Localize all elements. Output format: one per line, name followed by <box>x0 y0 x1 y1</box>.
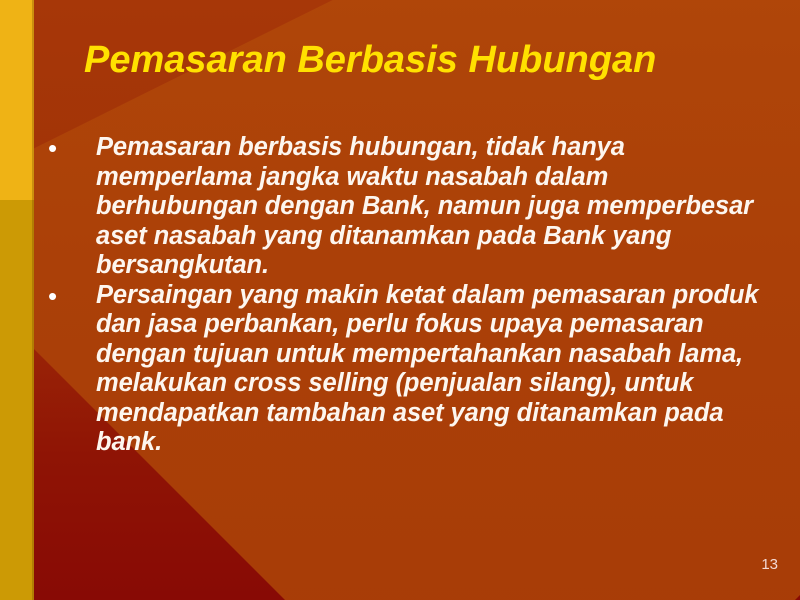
list-item-text: Pemasaran berbasis hubungan, tidak hanya… <box>96 133 774 281</box>
presentation-slide: Pemasaran Berbasis Hubungan • Pemasaran … <box>0 0 800 600</box>
list-item: • Persaingan yang makin ketat dalam pema… <box>44 281 774 458</box>
bullet-list: • Pemasaran berbasis hubungan, tidak han… <box>44 133 774 458</box>
bullet-point-icon: • <box>48 281 68 311</box>
bullet-point-icon: • <box>48 133 68 163</box>
list-item-text: Persaingan yang makin ketat dalam pemasa… <box>96 281 774 458</box>
slide-title: Pemasaran Berbasis Hubungan <box>84 38 744 82</box>
slide-content: Pemasaran Berbasis Hubungan • Pemasaran … <box>0 0 800 600</box>
list-item: • Pemasaran berbasis hubungan, tidak han… <box>44 133 774 281</box>
slide-number: 13 <box>761 556 778 573</box>
